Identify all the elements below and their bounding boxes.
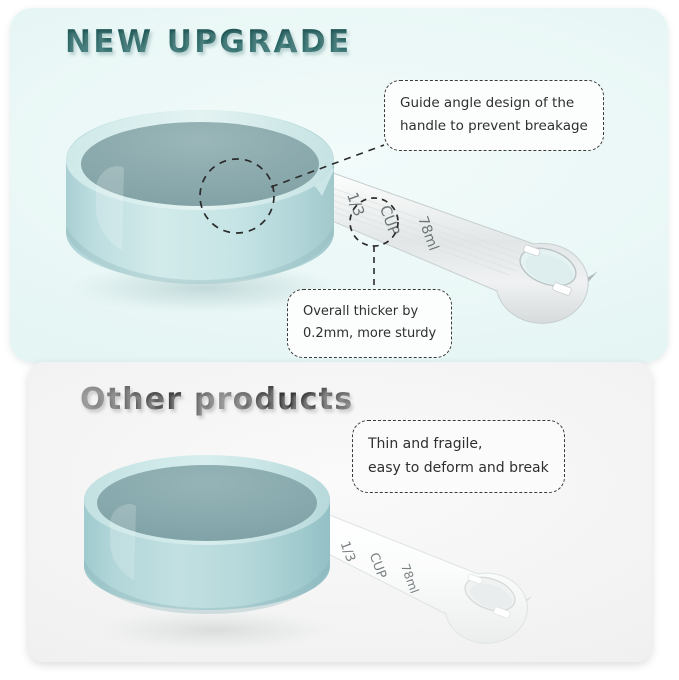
callout-guide-angle-line-1: Guide angle design of the (400, 92, 588, 115)
callout-thickness: Overall thicker by 0.2mm, more sturdy (287, 289, 452, 358)
cup-shadow-other (87, 608, 343, 652)
handle-other-products: 1/3 CUP 78ml (303, 510, 532, 643)
callout-guide-angle-line-2: handle to prevent breakage (400, 115, 588, 138)
callout-guide-angle: Guide angle design of the handle to prev… (384, 80, 604, 151)
callout-thickness-line-1: Overall thicker by (303, 301, 436, 323)
callout-fragile-line-1: Thin and fragile, (368, 432, 549, 456)
callout-fragile: Thin and fragile, easy to deform and bre… (352, 420, 565, 493)
infographic-canvas: NEW UPGRADE Other products (0, 0, 679, 680)
callout-fragile-line-2: easy to deform and break (368, 456, 549, 480)
callout-thickness-line-2: 0.2mm, more sturdy (303, 323, 436, 345)
